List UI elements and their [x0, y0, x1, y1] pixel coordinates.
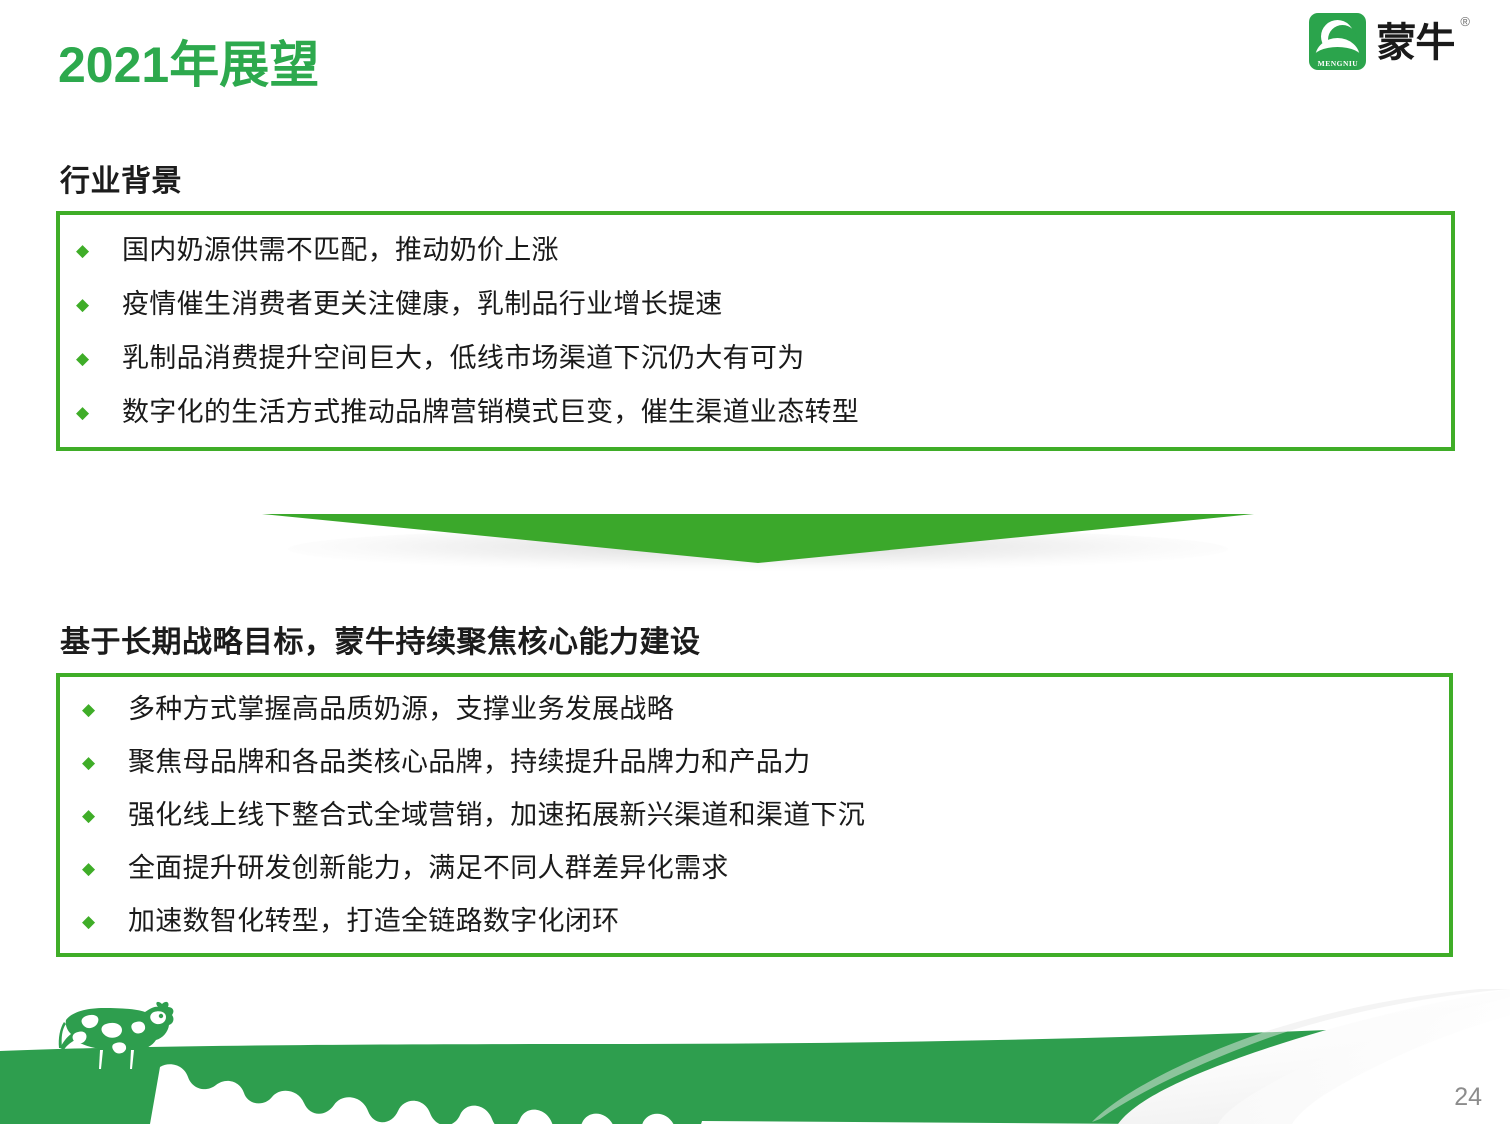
list-item-label: 全面提升研发创新能力，满足不同人群差异化需求 [128, 855, 729, 882]
diamond-bullet-icon: ◆ [76, 350, 122, 367]
list-item-label: 加速数智化转型，打造全链路数字化闭环 [128, 908, 619, 935]
list-item: ◆ 强化线上线下整合式全域营销，加速拓展新兴渠道和渠道下沉 [60, 789, 1449, 842]
list-item-label: 疫情催生消费者更关注健康，乳制品行业增长提速 [122, 291, 723, 318]
list-item: ◆ 聚焦母品牌和各品类核心品牌，持续提升品牌力和产品力 [60, 736, 1449, 789]
list-item: ◆ 乳制品消费提升空间巨大，低线市场渠道下沉仍大有可为 [60, 331, 1451, 385]
list-item: ◆ 数字化的生活方式推动品牌营销模式巨变，催生渠道业态转型 [60, 385, 1451, 439]
diamond-bullet-icon: ◆ [82, 701, 128, 718]
diamond-bullet-icon: ◆ [82, 860, 128, 877]
list-item-label: 聚焦母品牌和各品类核心品牌，持续提升品牌力和产品力 [128, 749, 811, 776]
core-capability-box: ◆ 多种方式掌握高品质奶源，支撑业务发展战略 ◆ 聚焦母品牌和各品类核心品牌，持… [56, 673, 1453, 957]
list-item: ◆ 全面提升研发创新能力，满足不同人群差异化需求 [60, 842, 1449, 895]
list-item: ◆ 疫情催生消费者更关注健康，乳制品行业增长提速 [60, 277, 1451, 331]
list-item-label: 数字化的生活方式推动品牌营销模式巨变，催生渠道业态转型 [122, 399, 859, 426]
slide-footer-decoration [0, 989, 1510, 1124]
list-item: ◆ 多种方式掌握高品质奶源，支撑业务发展战略 [60, 683, 1449, 736]
section-heading-strategy: 基于长期战略目标，蒙牛持续聚焦核心能力建设 [60, 617, 701, 661]
logo-latin-text: MENGNIU [1309, 59, 1366, 68]
list-item: ◆ 加速数智化转型，打造全链路数字化闭环 [60, 895, 1449, 948]
section-heading-industry-background: 行业背景 [60, 156, 182, 200]
list-item-label: 乳制品消费提升空间巨大，低线市场渠道下沉仍大有可为 [122, 345, 805, 372]
diamond-bullet-icon: ◆ [76, 404, 122, 421]
industry-background-bullet-list: ◆ 国内奶源供需不匹配，推动奶价上涨 ◆ 疫情催生消费者更关注健康，乳制品行业增… [60, 215, 1451, 447]
list-item-label: 多种方式掌握高品质奶源，支撑业务发展战略 [128, 696, 674, 723]
down-chevron-arrow-icon [262, 497, 1254, 581]
list-item-label: 强化线上线下整合式全域营销，加速拓展新兴渠道和渠道下沉 [128, 802, 865, 829]
industry-background-box: ◆ 国内奶源供需不匹配，推动奶价上涨 ◆ 疫情催生消费者更关注健康，乳制品行业增… [56, 211, 1455, 451]
page-title: 2021年展望 [58, 38, 319, 93]
list-item-label: 国内奶源供需不匹配，推动奶价上涨 [122, 237, 559, 264]
logo-chinese-text: 蒙牛 [1376, 23, 1454, 63]
slide-2021-outlook: MENGNIU 蒙牛 ® 2021年展望 行业背景 ◆ 国内奶源供需不匹配，推动… [0, 0, 1510, 1124]
dairy-cow-silhouette-icon [42, 998, 177, 1076]
diamond-bullet-icon: ◆ [82, 807, 128, 824]
diamond-bullet-icon: ◆ [82, 913, 128, 930]
core-capability-bullet-list: ◆ 多种方式掌握高品质奶源，支撑业务发展战略 ◆ 聚焦母品牌和各品类核心品牌，持… [60, 677, 1449, 953]
diamond-bullet-icon: ◆ [76, 296, 122, 313]
page-number: 24 [1454, 1083, 1482, 1112]
registered-trademark-icon: ® [1460, 14, 1470, 29]
mengniu-logo-mark: MENGNIU [1309, 13, 1366, 70]
list-item: ◆ 国内奶源供需不匹配，推动奶价上涨 [60, 223, 1451, 277]
diamond-bullet-icon: ◆ [82, 754, 128, 771]
diamond-bullet-icon: ◆ [76, 242, 122, 259]
mengniu-logo: MENGNIU 蒙牛 ® [1309, 8, 1470, 74]
